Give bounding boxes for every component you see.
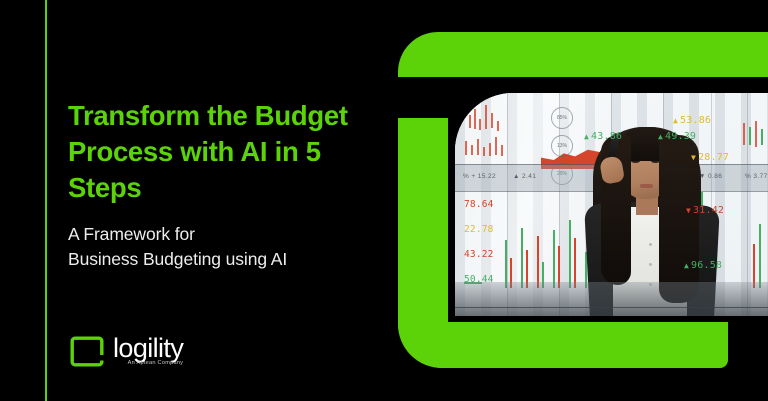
chart-bar	[553, 230, 555, 288]
left-accent-rule	[45, 0, 47, 401]
quote-chip: ▲49.39	[658, 131, 696, 142]
quote-value: 96.58	[691, 260, 722, 271]
quote-chip: ▲53.86	[673, 115, 711, 126]
spark-bar	[743, 123, 745, 145]
logo-text-block: logility An Aptean Company	[113, 334, 183, 362]
spark-bar	[755, 121, 757, 147]
quote-value: 28.77	[698, 152, 729, 163]
arrow-down-icon: ▼	[686, 206, 691, 215]
photo-foreground-shadow	[455, 282, 768, 316]
gauge-dial: 13%	[551, 135, 573, 157]
spark-bar	[483, 147, 485, 156]
hero-photo: 85% 13% 29% % + 15.22 ▲ 2.41 ▼ 0.86 % 3.…	[455, 93, 768, 316]
spark-bar	[497, 121, 499, 131]
quote-chip: ▼31.42	[686, 205, 724, 216]
quote-chip: ▲96.58	[684, 260, 722, 271]
spark-bar	[761, 129, 763, 145]
spark-bar	[469, 115, 471, 128]
logility-mark-icon	[70, 336, 104, 367]
chart-bar	[569, 220, 571, 288]
photo-content: 85% 13% 29% % + 15.22 ▲ 2.41 ▼ 0.86 % 3.…	[455, 93, 768, 316]
chart-bar	[521, 228, 523, 288]
text-column: Transform the Budget Process with AI in …	[68, 98, 388, 272]
spark-bar	[465, 141, 467, 155]
subject-mouth	[640, 184, 653, 188]
shirt-button	[649, 243, 652, 246]
spark-bar	[471, 145, 473, 155]
spark-bar	[485, 105, 487, 129]
quote-chip: ▼28.77	[691, 152, 729, 163]
logo-tagline: An Aptean Company	[128, 360, 184, 366]
axis-value: 22.78	[464, 224, 494, 235]
arrow-up-icon: ▲	[658, 132, 663, 141]
arrow-up-icon: ▲	[584, 132, 589, 141]
spark-bar	[479, 119, 481, 130]
ticker-cell: % 3.77	[745, 173, 768, 180]
ticker-cell: % + 15.22	[463, 173, 496, 180]
quote-value: 49.39	[665, 131, 696, 142]
ticker-cell: ▲ 2.41	[513, 173, 536, 180]
quote-value: 31.42	[693, 205, 724, 216]
logility-logo[interactable]: logility An Aptean Company	[70, 334, 183, 367]
spark-bar	[474, 109, 476, 129]
spark-bar	[489, 143, 491, 156]
chart-bar	[574, 238, 576, 288]
page-title: Transform the Budget Process with AI in …	[68, 98, 388, 206]
arrow-up-icon: ▲	[673, 116, 678, 125]
spark-bar	[477, 139, 479, 155]
mark-top-bar	[398, 32, 768, 77]
quote-value: 53.86	[680, 115, 711, 126]
promo-banner: Transform the Budget Process with AI in …	[0, 0, 768, 401]
spark-bar	[749, 127, 751, 145]
gauge-dial: 85%	[551, 107, 573, 129]
spark-bar	[495, 137, 497, 155]
shirt-button	[649, 263, 652, 266]
arrow-down-icon: ▼	[691, 153, 696, 162]
axis-value: 78.64	[464, 199, 494, 210]
arrow-up-icon: ▲	[684, 261, 689, 270]
chart-bar	[759, 224, 761, 288]
logo-wordmark: logility	[113, 335, 183, 362]
axis-value: 43.22	[464, 249, 494, 260]
quote-value: 43.86	[591, 131, 622, 142]
chart-bar	[505, 240, 507, 288]
spark-bar	[501, 145, 503, 156]
mark-bottom-bar	[398, 322, 728, 368]
spark-bar	[491, 113, 493, 128]
quote-chip: ▲43.86	[584, 131, 622, 142]
page-subtitle: A Framework for Business Budgeting using…	[68, 222, 388, 272]
chart-bar	[537, 236, 539, 288]
